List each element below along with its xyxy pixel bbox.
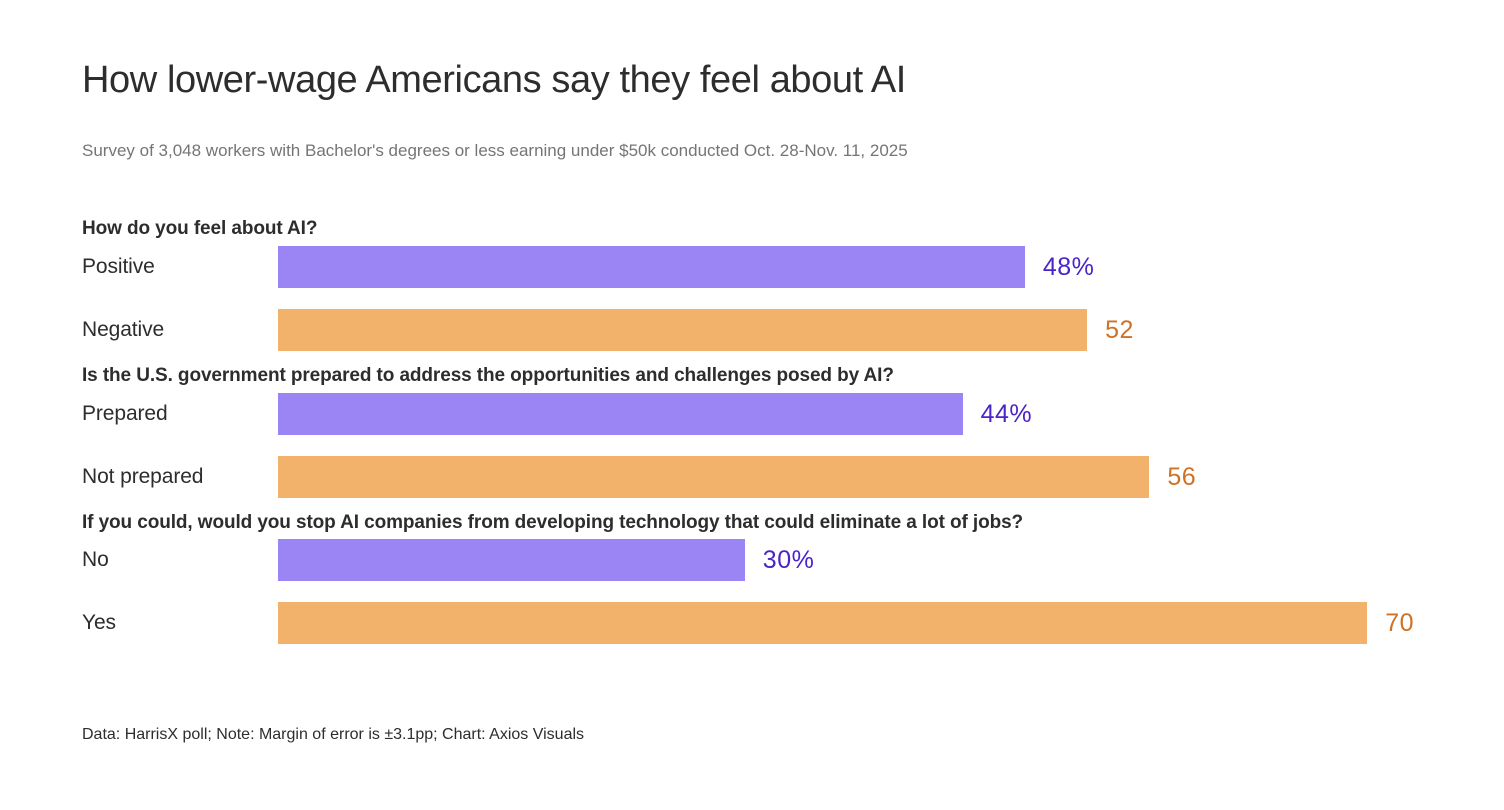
bar-positive — [278, 393, 963, 435]
chart-source-note: Data: HarrisX poll; Note: Margin of erro… — [82, 726, 584, 744]
bar-track: 44% — [278, 393, 1422, 435]
bar-row: Positive48% — [82, 246, 1422, 288]
bar-row: Negative52 — [82, 309, 1422, 351]
chart-subtitle: Survey of 3,048 workers with Bachelor's … — [82, 140, 908, 162]
bar-negative — [278, 602, 1367, 644]
bar-category-label: Negative — [82, 309, 272, 351]
bar-category-label: Prepared — [82, 393, 272, 435]
bar-value-label: 52 — [1105, 309, 1134, 351]
bar-category-label: Not prepared — [82, 456, 272, 498]
bar-negative — [278, 309, 1087, 351]
bar-positive — [278, 246, 1025, 288]
question-label: Is the U.S. government prepared to addre… — [82, 365, 1422, 388]
bar-row: Yes70 — [82, 602, 1422, 644]
page-title: How lower-wage Americans say they feel a… — [82, 58, 906, 103]
bar-positive — [278, 539, 745, 581]
chart-page: How lower-wage Americans say they feel a… — [0, 0, 1504, 810]
bar-category-label: Yes — [82, 602, 272, 644]
question-group: Is the U.S. government prepared to addre… — [82, 365, 1422, 498]
bar-row: Prepared44% — [82, 393, 1422, 435]
question-label: If you could, would you stop AI companie… — [82, 512, 1422, 535]
bar-negative — [278, 456, 1149, 498]
chart-groups-container: How do you feel about AI?Positive48%Nega… — [82, 218, 1422, 644]
bar-value-label: 70 — [1385, 602, 1414, 644]
bar-value-label: 56 — [1167, 456, 1196, 498]
bar-row: No30% — [82, 539, 1422, 581]
bar-track: 56 — [278, 456, 1422, 498]
question-label: How do you feel about AI? — [82, 218, 1422, 241]
bar-track: 52 — [278, 309, 1422, 351]
bar-value-label: 30% — [763, 539, 815, 581]
bar-value-label: 44% — [981, 393, 1033, 435]
bar-track: 70 — [278, 602, 1422, 644]
bar-track: 30% — [278, 539, 1422, 581]
bar-row: Not prepared56 — [82, 456, 1422, 498]
bar-category-label: Positive — [82, 246, 272, 288]
bar-track: 48% — [278, 246, 1422, 288]
question-group: If you could, would you stop AI companie… — [82, 512, 1422, 645]
bar-category-label: No — [82, 539, 272, 581]
bar-value-label: 48% — [1043, 246, 1095, 288]
question-group: How do you feel about AI?Positive48%Nega… — [82, 218, 1422, 351]
